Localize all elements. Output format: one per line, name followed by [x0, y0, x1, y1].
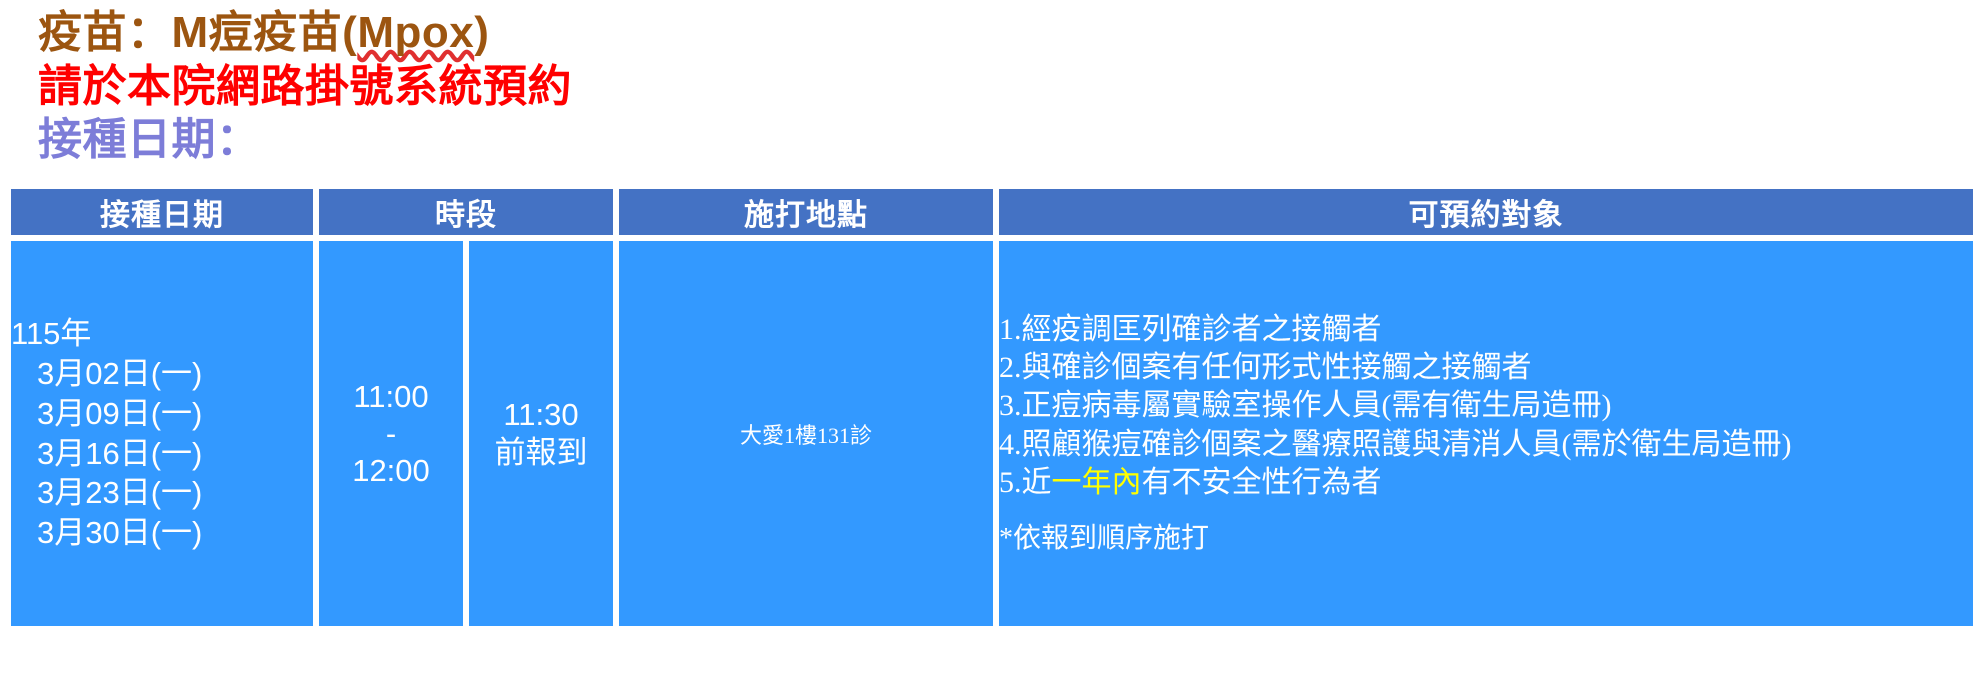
heading-line-vaccine-name: 疫苗：M痘疫苗(Mpox) [38, 6, 1238, 60]
target-item-5-suffix: 有不安全性行為者 [1142, 466, 1382, 499]
time-range-dash: - [319, 415, 463, 452]
column-header-eligible-targets: 可預約對象 [996, 186, 1976, 238]
heading-line-vaccination-date-label: 接種日期： [38, 113, 1238, 167]
cell-vaccination-dates: 115年 3月02日(一) 3月09日(一) 3月16日(一) 3月23日(一)… [8, 238, 316, 629]
target-item-3: 3.正痘病毒屬實驗室操作人員(需有衛生局造冊) [999, 387, 1973, 425]
date-item-1: 3月02日(一) [11, 354, 313, 394]
column-header-date: 接種日期 [8, 186, 316, 238]
date-year: 115年 [11, 314, 313, 354]
report-by-label: 前報到 [469, 434, 613, 471]
target-note: *依報到順序施打 [999, 521, 1973, 557]
heading-block: 疫苗：M痘疫苗(Mpox) 請於本院網路掛號系統預約 接種日期： [38, 6, 1238, 167]
target-list-spacer [999, 503, 1973, 521]
vaccination-schedule-table: 接種日期 時段 施打地點 可預約對象 115年 3月02日(一) 3月09日(一… [8, 186, 1976, 629]
cell-time-range: 11:00 - 12:00 [316, 238, 466, 629]
table-row: 115年 3月02日(一) 3月09日(一) 3月16日(一) 3月23日(一)… [8, 238, 1976, 629]
heading-line-booking-notice: 請於本院網路掛號系統預約 [38, 60, 1238, 114]
target-item-2: 2.與確診個案有任何形式性接觸之接觸者 [999, 349, 1973, 387]
cell-location: 大愛1樓131診 [616, 238, 996, 629]
date-item-5: 3月30日(一) [11, 513, 313, 553]
target-item-5-prefix: 5.近 [999, 466, 1052, 499]
date-item-4: 3月23日(一) [11, 473, 313, 513]
cell-report-by: 11:30 前報到 [466, 238, 616, 629]
cell-eligible-targets: 1.經疫調匡列確診者之接觸者 2.與確診個案有任何形式性接觸之接觸者 3.正痘病… [996, 238, 1976, 629]
table-body: 115年 3月02日(一) 3月09日(一) 3月16日(一) 3月23日(一)… [8, 238, 1976, 629]
date-item-3: 3月16日(一) [11, 434, 313, 474]
target-item-5: 5.近一年內有不安全性行為者 [999, 464, 1973, 502]
target-item-1: 1.經疫調匡列確診者之接觸者 [999, 311, 1973, 349]
table-header: 接種日期 時段 施打地點 可預約對象 [8, 186, 1976, 238]
heading-line1-mpox-term: Mpox [357, 8, 474, 57]
heading-line1-suffix: ) [474, 8, 489, 57]
target-item-5-highlight: 一年內 [1052, 466, 1142, 499]
time-range-start: 11:00 [319, 378, 463, 415]
heading-line1-prefix: 疫苗：M痘疫苗( [38, 8, 357, 57]
column-header-location: 施打地點 [616, 186, 996, 238]
date-item-2: 3月09日(一) [11, 394, 313, 434]
table-header-row: 接種日期 時段 施打地點 可預約對象 [8, 186, 1976, 238]
time-range-end: 12:00 [319, 452, 463, 489]
column-header-time-slot: 時段 [316, 186, 616, 238]
report-by-time: 11:30 [469, 396, 613, 433]
target-item-4: 4.照顧猴痘確診個案之醫療照護與清消人員(需於衛生局造冊) [999, 426, 1973, 464]
